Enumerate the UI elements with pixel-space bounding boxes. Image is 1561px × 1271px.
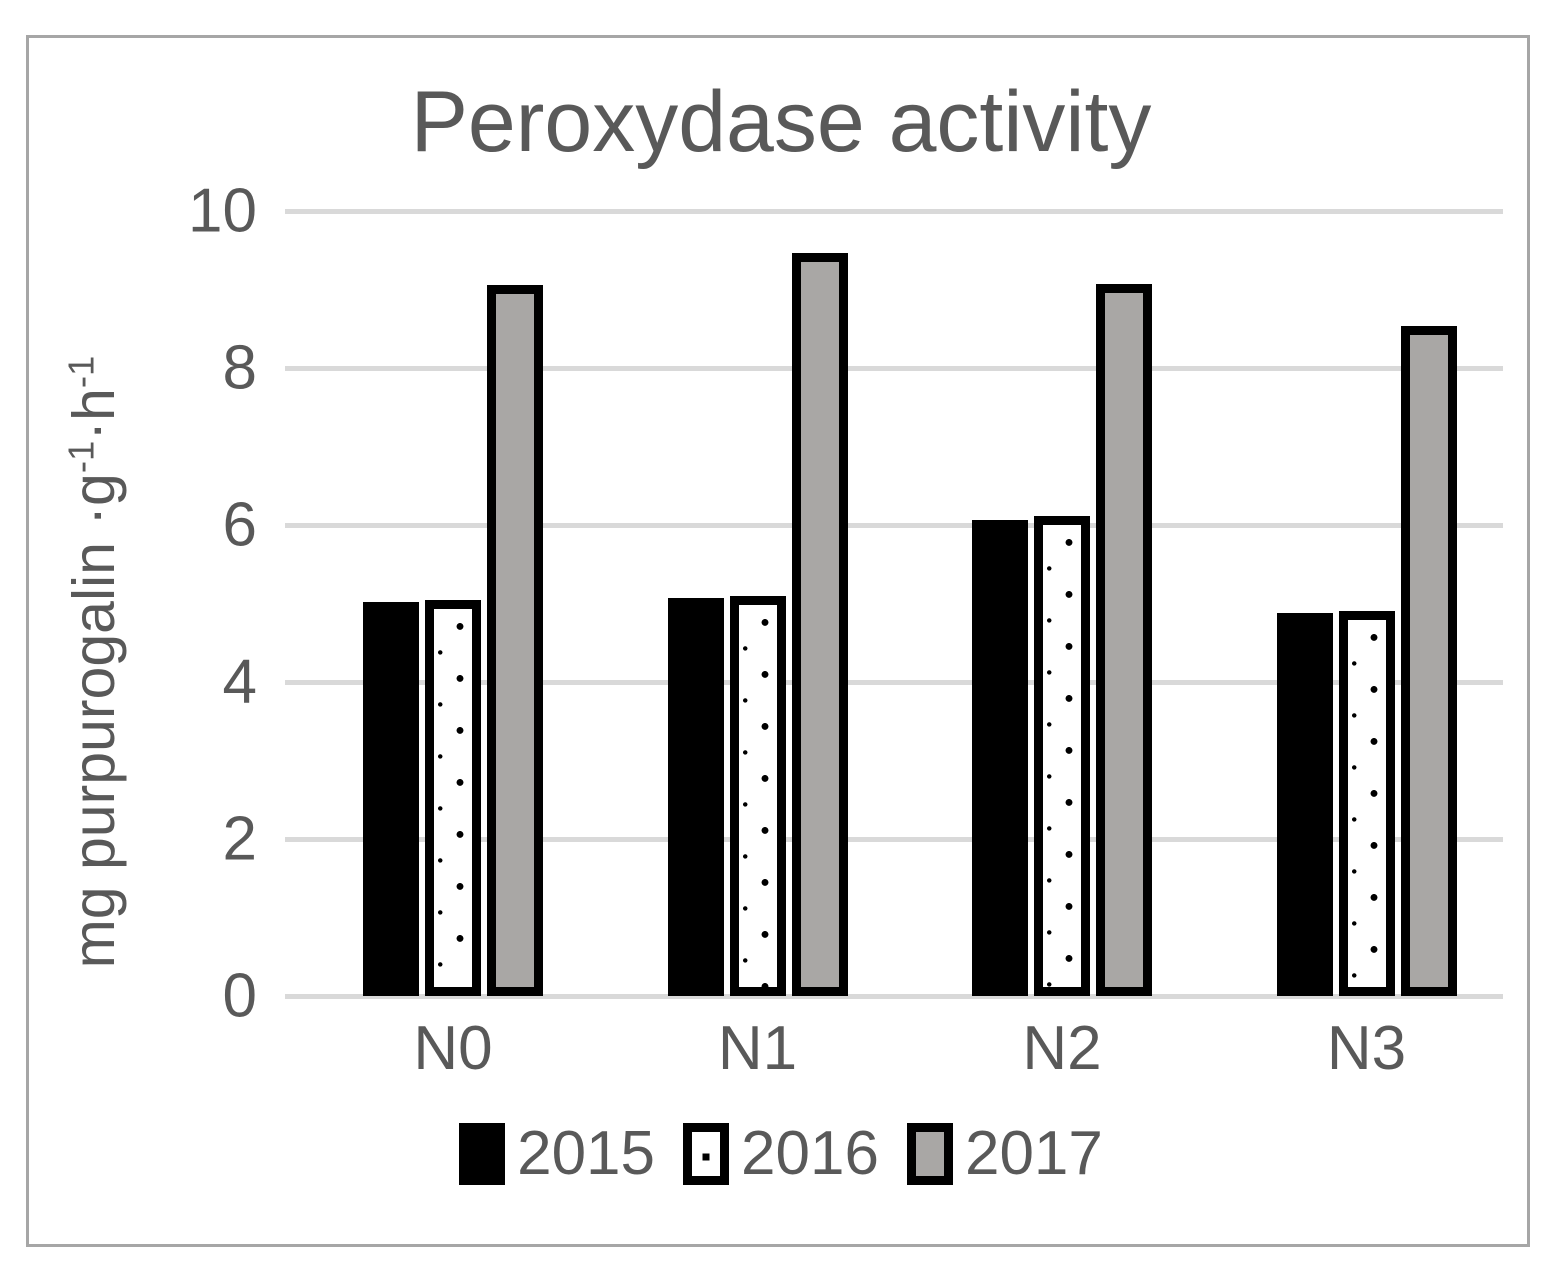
y-tick-label: 8 — [223, 333, 257, 404]
bar-group-n3 — [1199, 211, 1504, 996]
legend-swatch-2017-icon — [907, 1123, 953, 1185]
y-axis-title-middle: ·h — [61, 388, 127, 440]
bar-n3-2017[interactable] — [1401, 326, 1457, 996]
bar-group-n2 — [894, 211, 1199, 996]
y-axis-title: mg purpurogalin ·g-1·h-1 — [60, 262, 128, 1062]
x-tick-label-n2: N2 — [1022, 1013, 1101, 1084]
x-axis-tick-labels: N0N1N2N3 — [285, 1013, 1503, 1103]
bar-n2-2017[interactable] — [1096, 284, 1152, 996]
x-tick-label-n0: N0 — [413, 1013, 492, 1084]
bars-layer — [285, 211, 1503, 996]
legend-label-2015: 2015 — [517, 1123, 655, 1185]
bar-n3-2016[interactable] — [1339, 611, 1395, 996]
bar-group-n0 — [285, 211, 590, 996]
bar-n2-2015[interactable] — [972, 520, 1028, 996]
bar-n2-2016[interactable] — [1034, 516, 1090, 996]
chart-legend: 201520162017 — [29, 1123, 1533, 1185]
bar-n1-2015[interactable] — [668, 598, 724, 996]
bar-group-n1 — [590, 211, 895, 996]
y-tick-label: 6 — [223, 490, 257, 561]
legend-entry-2015[interactable]: 2015 — [459, 1123, 655, 1185]
chart-title: Peroxydase activity — [29, 73, 1533, 172]
plot-area: 0246810 — [285, 211, 1503, 996]
bar-n0-2016[interactable] — [425, 600, 481, 996]
bar-n1-2017[interactable] — [792, 253, 848, 996]
legend-swatch-2016-icon — [683, 1123, 729, 1185]
x-tick-label-n3: N3 — [1327, 1013, 1406, 1084]
bar-n0-2015[interactable] — [363, 602, 419, 996]
chart-frame: Peroxydase activity mg purpurogalin ·g-1… — [26, 35, 1530, 1247]
y-axis-title-sup-1: -1 — [60, 441, 101, 474]
chart-figure: Peroxydase activity mg purpurogalin ·g-1… — [0, 0, 1561, 1271]
legend-label-2017: 2017 — [965, 1123, 1103, 1185]
y-tick-label: 0 — [223, 961, 257, 1032]
legend-label-2016: 2016 — [741, 1123, 879, 1185]
y-tick-label: 10 — [188, 176, 257, 247]
bar-n1-2016[interactable] — [730, 596, 786, 996]
y-tick-label: 4 — [223, 647, 257, 718]
legend-swatch-2015-icon — [459, 1123, 505, 1185]
bar-n3-2015[interactable] — [1277, 613, 1333, 996]
x-tick-label-n1: N1 — [718, 1013, 797, 1084]
bar-n0-2017[interactable] — [487, 285, 543, 996]
y-axis-title-sup-2: -1 — [60, 356, 101, 389]
legend-entry-2017[interactable]: 2017 — [907, 1123, 1103, 1185]
y-axis-title-prefix: mg purpurogalin ·g — [61, 473, 127, 968]
y-tick-label: 2 — [223, 804, 257, 875]
legend-entry-2016[interactable]: 2016 — [683, 1123, 879, 1185]
